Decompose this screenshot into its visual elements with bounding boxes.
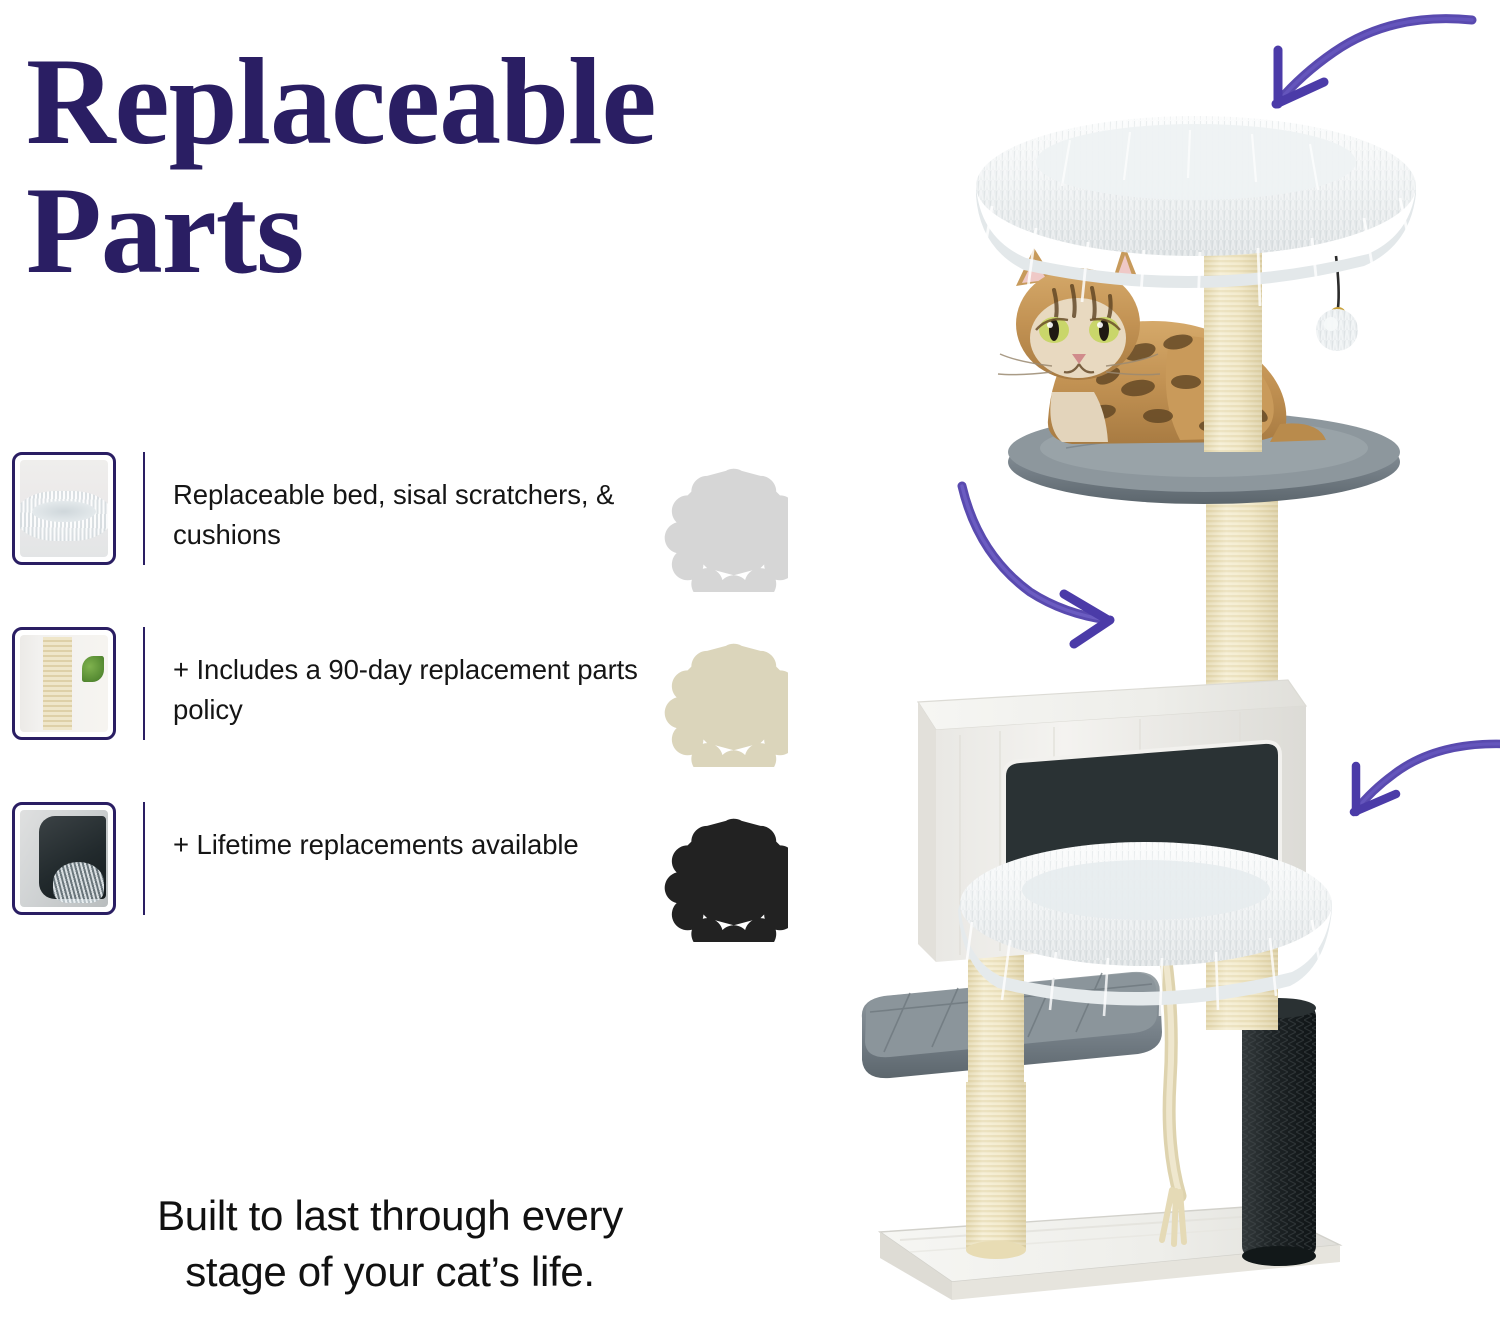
thumbnail-image [20,460,108,557]
swatch-charcoal-icon [648,802,788,942]
arrow-to-sisal-post [952,478,1162,630]
swatch-slot [648,452,828,627]
infographic-canvas: Replaceable Parts Replaceable bed, sisal… [0,0,1500,1319]
product-photo [840,0,1500,1319]
sisal-post-lower-left [966,1082,1026,1259]
condo-opening-thumbnail [12,802,116,915]
arrow-to-lower-perch [1338,736,1500,822]
thumbnail-image [20,810,108,907]
tagline: Built to last through every stage of you… [40,1188,740,1300]
swatch-slot [648,627,828,802]
plush-round-bed-thumbnail [12,452,116,565]
feature-divider [143,452,145,565]
feature-row: + Includes a 90-day replacement parts po… [12,627,652,802]
feature-label: + Lifetime replacements available [173,802,579,865]
cat-tree-illustration [840,0,1500,1319]
feature-label: + Includes a 90-day replacement parts po… [173,627,643,730]
tagline-line-2: stage of your cat’s life. [40,1244,740,1300]
feature-label: Replaceable bed, sisal scratchers, & cus… [173,452,643,555]
arrow-to-top-bed [1242,6,1478,110]
feature-divider [143,627,145,740]
feature-row: Replaceable bed, sisal scratchers, & cus… [12,452,652,627]
tagline-line-1: Built to last through every [40,1188,740,1244]
bristle-brush-post [1242,998,1316,1266]
thumbnail-image [20,635,108,732]
swatch-column [648,452,828,977]
feature-list: Replaceable bed, sisal scratchers, & cus… [12,452,652,977]
sisal-scratching-post-thumbnail [12,627,116,740]
page-title-line-2: Parts [26,167,846,296]
page-title: Replaceable Parts [26,38,846,296]
feature-divider [143,802,145,915]
swatch-light-gray-icon [648,452,788,592]
feature-row: + Lifetime replacements available [12,802,652,977]
page-title-line-1: Replaceable [26,33,656,170]
swatch-beige-icon [648,627,788,767]
swatch-slot [648,802,828,977]
